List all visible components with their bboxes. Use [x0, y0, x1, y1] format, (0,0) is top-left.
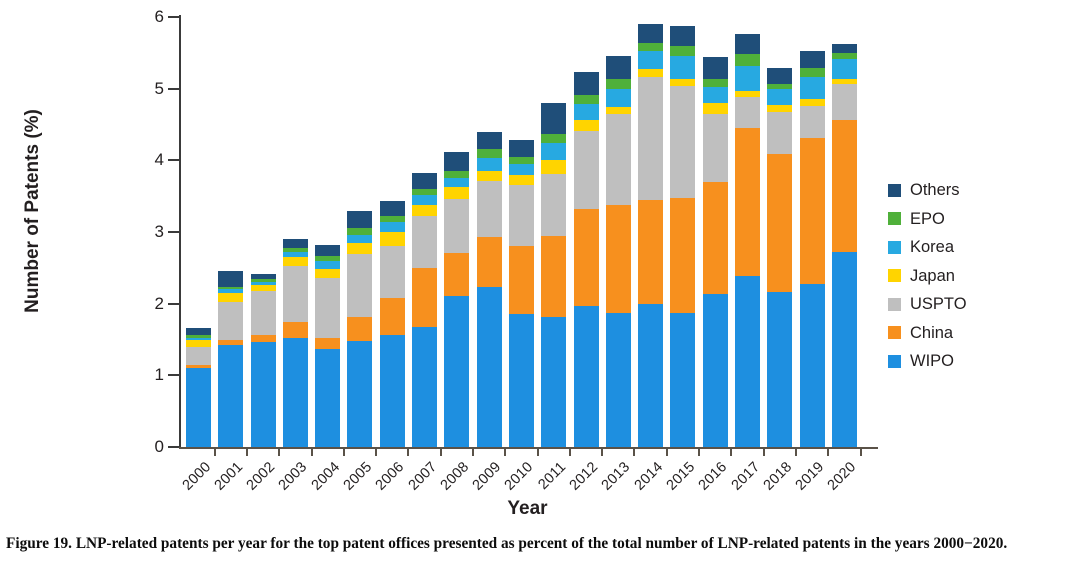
y-tick-label: 3 — [124, 223, 164, 240]
bar-segment-china — [251, 335, 276, 342]
y-tick-label: 6 — [124, 8, 164, 25]
bar-segment-china — [412, 268, 437, 327]
bar-segment-wipo — [444, 296, 469, 447]
bar-segment-others — [509, 140, 534, 156]
bar-segment-uspto — [283, 266, 308, 322]
bar-segment-korea — [670, 56, 695, 78]
bar-segment-japan — [638, 69, 663, 76]
bar-segment-china — [670, 198, 695, 313]
bar-segment-korea — [800, 77, 825, 99]
bar-segment-epo — [735, 54, 760, 66]
bar-segment-wipo — [509, 314, 534, 447]
legend-label: EPO — [910, 211, 945, 228]
y-tick — [168, 159, 179, 161]
chart-legend: OthersEPOKoreaJapanUSPTOChinaWIPO — [888, 176, 967, 376]
bar-segment-china — [444, 253, 469, 296]
bar-2020[interactable] — [832, 44, 857, 447]
x-axis-title: Year — [180, 498, 875, 520]
bar-segment-uspto — [509, 185, 534, 247]
x-tick — [763, 448, 765, 456]
bar-segment-korea — [477, 158, 502, 172]
bar-2006[interactable] — [380, 201, 405, 447]
bar-segment-others — [380, 201, 405, 216]
bar-segment-epo — [444, 171, 469, 178]
y-tick-label: 5 — [124, 80, 164, 97]
bar-segment-china — [832, 120, 857, 253]
bar-segment-wipo — [638, 304, 663, 447]
bar-2018[interactable] — [767, 68, 792, 447]
bar-segment-uspto — [444, 199, 469, 253]
x-tick — [440, 448, 442, 456]
bar-segment-uspto — [638, 77, 663, 200]
bar-segment-epo — [638, 43, 663, 52]
legend-item-epo[interactable]: EPO — [888, 205, 967, 234]
x-tick — [827, 448, 829, 456]
bar-segment-uspto — [380, 246, 405, 298]
stacked-bar-chart: 0123456 20002001200220032004200520062007… — [0, 0, 1080, 528]
bar-2011[interactable] — [541, 103, 566, 447]
bar-segment-others — [541, 103, 566, 134]
bar-segment-china — [477, 237, 502, 287]
x-tick — [730, 448, 732, 456]
bar-2004[interactable] — [315, 245, 340, 447]
bar-segment-epo — [800, 68, 825, 77]
bar-2019[interactable] — [800, 51, 825, 447]
legend-label: USPTO — [910, 296, 967, 313]
x-axis-line — [179, 447, 878, 449]
legend-item-others[interactable]: Others — [888, 176, 967, 205]
bar-segment-wipo — [283, 338, 308, 447]
bar-segment-others — [832, 44, 857, 53]
bar-segment-japan — [670, 79, 695, 86]
y-tick — [168, 374, 179, 376]
bar-segment-epo — [541, 134, 566, 143]
bar-segment-korea — [574, 104, 599, 120]
bar-segment-korea — [638, 51, 663, 69]
bar-segment-uspto — [703, 114, 728, 182]
legend-item-japan[interactable]: Japan — [888, 262, 967, 291]
bar-segment-uspto — [735, 97, 760, 129]
x-tick — [569, 448, 571, 456]
bar-2010[interactable] — [509, 140, 534, 447]
legend-swatch-icon — [888, 355, 901, 368]
bar-segment-china — [638, 200, 663, 304]
bar-2017[interactable] — [735, 34, 760, 447]
bar-segment-uspto — [832, 84, 857, 119]
bar-segment-china — [606, 205, 631, 313]
bar-segment-wipo — [606, 313, 631, 447]
figure-caption: Figure 19. LNP-related patents per year … — [6, 534, 1070, 554]
bar-segment-wipo — [186, 368, 211, 447]
bar-2009[interactable] — [477, 132, 502, 447]
bar-segment-uspto — [477, 181, 502, 237]
bar-segment-china — [509, 246, 534, 314]
x-tick — [504, 448, 506, 456]
bar-segment-uspto — [412, 216, 437, 268]
bar-segment-others — [444, 152, 469, 171]
bar-segment-wipo — [832, 252, 857, 447]
legend-label: China — [910, 325, 953, 342]
bar-segment-uspto — [347, 254, 372, 316]
bar-segment-wipo — [347, 341, 372, 447]
bar-segment-others — [412, 173, 437, 189]
bar-segment-others — [606, 56, 631, 79]
legend-label: Korea — [910, 239, 954, 256]
bar-segment-korea — [380, 222, 405, 232]
bar-segment-japan — [509, 175, 534, 185]
bar-segment-korea — [767, 89, 792, 105]
bar-segment-china — [703, 182, 728, 294]
bar-segment-wipo — [574, 306, 599, 447]
bar-segment-others — [638, 24, 663, 43]
bar-segment-others — [767, 68, 792, 84]
bar-segment-others — [218, 271, 243, 287]
legend-swatch-icon — [888, 184, 901, 197]
y-tick — [168, 446, 179, 448]
bar-segment-wipo — [735, 276, 760, 447]
bar-segment-japan — [347, 243, 372, 254]
x-tick — [698, 448, 700, 456]
bar-segment-others — [315, 245, 340, 256]
x-tick — [246, 448, 248, 456]
bar-2000[interactable] — [186, 328, 211, 447]
figure-19: 0123456 20002001200220032004200520062007… — [0, 0, 1080, 580]
legend-item-china[interactable]: China — [888, 319, 967, 348]
bar-segment-uspto — [541, 174, 566, 236]
x-tick — [860, 448, 862, 456]
bar-segment-wipo — [477, 287, 502, 447]
bar-2005[interactable] — [347, 211, 372, 447]
bar-segment-epo — [670, 46, 695, 56]
bar-segment-epo — [477, 149, 502, 158]
x-tick — [666, 448, 668, 456]
legend-item-korea[interactable]: Korea — [888, 233, 967, 262]
bar-segment-epo — [509, 157, 534, 164]
bar-segment-wipo — [412, 327, 437, 447]
bar-segment-korea — [541, 143, 566, 160]
y-tick — [168, 88, 179, 90]
legend-item-uspto[interactable]: USPTO — [888, 290, 967, 319]
bar-2013[interactable] — [606, 56, 631, 447]
bar-segment-china — [800, 138, 825, 283]
bar-segment-uspto — [251, 291, 276, 335]
bar-segment-china — [541, 236, 566, 317]
bar-2007[interactable] — [412, 173, 437, 447]
y-axis-title: Number of Patents (%) — [22, 51, 44, 371]
bar-segment-wipo — [800, 284, 825, 447]
legend-label: Others — [910, 182, 960, 199]
bar-segment-japan — [444, 187, 469, 199]
bar-segment-korea — [509, 164, 534, 175]
bar-segment-korea — [703, 87, 728, 103]
bar-segment-japan — [380, 232, 405, 246]
legend-swatch-icon — [888, 212, 901, 225]
bar-segment-uspto — [315, 278, 340, 338]
bar-segment-korea — [444, 178, 469, 187]
bar-segment-others — [670, 26, 695, 47]
bar-segment-japan — [541, 160, 566, 174]
x-tick — [278, 448, 280, 456]
bar-segment-wipo — [218, 345, 243, 447]
bar-segment-japan — [477, 171, 502, 181]
x-tick — [633, 448, 635, 456]
bar-segment-japan — [412, 205, 437, 216]
bar-2014[interactable] — [638, 24, 663, 448]
bar-segment-others — [735, 34, 760, 54]
x-tick — [601, 448, 603, 456]
bar-segment-korea — [315, 261, 340, 268]
bar-segment-others — [477, 132, 502, 148]
y-tick-label: 4 — [124, 151, 164, 168]
bar-2012[interactable] — [574, 72, 599, 448]
legend-swatch-icon — [888, 241, 901, 254]
bar-segment-china — [735, 128, 760, 276]
bar-segment-japan — [574, 120, 599, 131]
bar-2008[interactable] — [444, 152, 469, 447]
bar-segment-uspto — [670, 86, 695, 199]
y-tick — [168, 16, 179, 18]
bar-segment-others — [703, 57, 728, 79]
bar-segment-epo — [606, 79, 631, 88]
bar-segment-uspto — [218, 302, 243, 341]
bar-segment-uspto — [606, 114, 631, 205]
bar-segment-wipo — [670, 313, 695, 447]
bar-2001[interactable] — [218, 271, 243, 447]
bar-2016[interactable] — [703, 57, 728, 447]
y-tick — [168, 303, 179, 305]
bar-segment-epo — [574, 95, 599, 104]
bar-segment-wipo — [380, 335, 405, 447]
bar-segment-japan — [800, 99, 825, 106]
bar-segment-japan — [315, 269, 340, 278]
bar-segment-wipo — [767, 292, 792, 447]
bar-segment-others — [347, 211, 372, 229]
x-tick — [537, 448, 539, 456]
legend-label: WIPO — [910, 353, 954, 370]
bar-segment-china — [574, 209, 599, 306]
bar-segment-others — [283, 239, 308, 248]
bar-segment-china — [767, 154, 792, 292]
y-tick — [168, 231, 179, 233]
bar-segment-korea — [412, 195, 437, 204]
bar-segment-korea — [347, 235, 372, 244]
x-tick — [311, 448, 313, 456]
legend-swatch-icon — [888, 269, 901, 282]
x-tick — [343, 448, 345, 456]
bar-segment-china — [283, 322, 308, 338]
bar-segment-korea — [735, 66, 760, 91]
x-tick — [375, 448, 377, 456]
bar-segment-others — [574, 72, 599, 96]
bar-segment-japan — [606, 107, 631, 114]
bar-segment-japan — [218, 293, 243, 302]
bar-segment-japan — [703, 103, 728, 114]
y-tick-label: 2 — [124, 295, 164, 312]
bar-segment-others — [800, 51, 825, 68]
bar-segment-uspto — [574, 131, 599, 209]
bar-2003[interactable] — [283, 239, 308, 448]
legend-swatch-icon — [888, 298, 901, 311]
x-tick — [407, 448, 409, 456]
bar-segment-uspto — [767, 112, 792, 154]
legend-swatch-icon — [888, 326, 901, 339]
bar-segment-japan — [283, 257, 308, 266]
x-tick — [214, 448, 216, 456]
legend-item-wipo[interactable]: WIPO — [888, 347, 967, 376]
bar-segment-wipo — [703, 294, 728, 447]
bar-segment-china — [347, 317, 372, 341]
bar-segment-uspto — [186, 347, 211, 364]
bar-segment-korea — [606, 89, 631, 108]
bar-segment-wipo — [541, 317, 566, 447]
bar-segment-japan — [767, 105, 792, 112]
bar-segment-japan — [186, 340, 211, 347]
bar-2015[interactable] — [670, 26, 695, 447]
bar-segment-epo — [703, 79, 728, 88]
x-tick — [795, 448, 797, 456]
legend-label: Japan — [910, 268, 955, 285]
bar-2002[interactable] — [251, 274, 276, 447]
bar-segment-china — [315, 338, 340, 349]
y-tick-label: 0 — [124, 438, 164, 455]
x-tick — [472, 448, 474, 456]
bar-segment-china — [380, 298, 405, 335]
bar-segment-wipo — [315, 349, 340, 447]
y-tick-label: 1 — [124, 366, 164, 383]
bar-segment-uspto — [800, 106, 825, 138]
plot-area — [180, 17, 875, 447]
bar-segment-wipo — [251, 342, 276, 447]
bar-segment-korea — [832, 59, 857, 78]
